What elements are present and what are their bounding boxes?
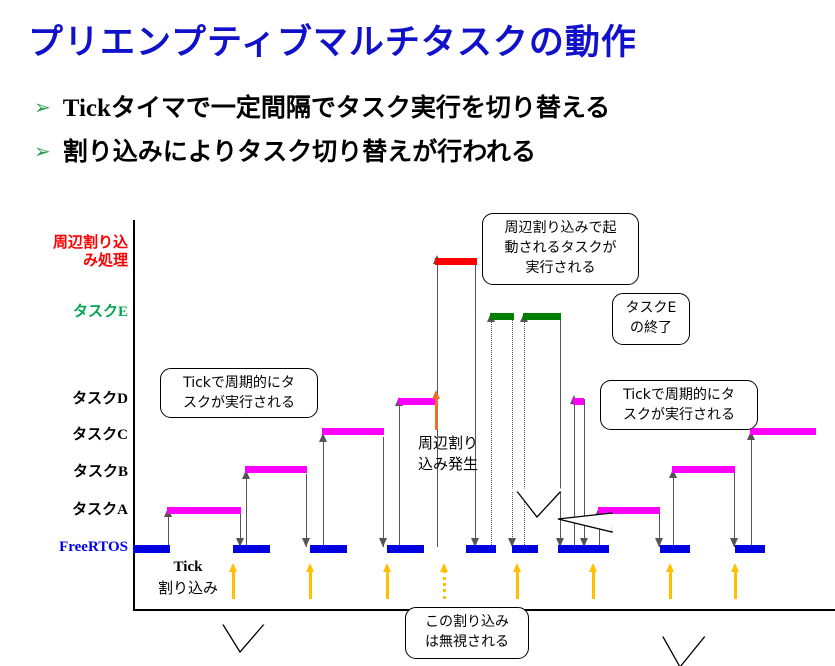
callout-line: 周辺割り込みで起 <box>490 218 631 238</box>
callout-line: スクが実行される <box>608 405 750 425</box>
callout-line: タスクE <box>620 298 682 318</box>
callout-taskE-end: タスクE の終了 <box>612 293 690 345</box>
callout-tick-periodic-left: Tickで周期的にタ スクが実行される <box>160 368 318 418</box>
peripheral-interrupt-label-line1: 周辺割り <box>418 433 496 454</box>
bullet-text-1: 割り込みによりタスク切り替えが行われる <box>63 139 536 166</box>
bullet-marker-icon: ➢ <box>34 95 51 120</box>
page-title: プリエンプティブマルチタスクの動作 <box>28 14 808 65</box>
tick-interrupt-label-line2: 割り込み <box>140 578 236 599</box>
callout-line: スクが実行される <box>168 393 310 413</box>
tick-interrupt-label: Tick 割り込み <box>140 557 236 599</box>
peripheral-interrupt-label: 周辺割り 込み発生 <box>418 433 496 475</box>
callout-line: Tickで周期的にタ <box>608 385 750 405</box>
callout-tick-periodic-right: Tickで周期的にタ スクが実行される <box>600 380 758 430</box>
bullet-marker-icon: ➢ <box>34 139 51 164</box>
slide: プリエンプティブマルチタスクの動作 ➢Tickタイマで一定間隔でタスク実行を切り… <box>0 0 835 666</box>
bullet-item-1: ➢割り込みによりタスク切り替えが行われる <box>34 132 536 168</box>
callout-line: は無視される <box>413 632 521 652</box>
timeline-chart: 周辺割り込 み処理 タスクE タスクD タスクC タスクB タスクA FreeR… <box>0 205 835 666</box>
callout-line: この割り込み <box>413 612 521 632</box>
bullet-item-0: ➢Tickタイマで一定間隔でタスク実行を切り替える <box>34 88 610 124</box>
bullet-text-0: Tickタイマで一定間隔でタスク実行を切り替える <box>63 95 610 122</box>
tick-interrupt-label-line1: Tick <box>140 557 236 578</box>
callout-ignored-interrupt: この割り込み は無視される <box>405 607 529 659</box>
callout-periph-task-run: 周辺割り込みで起 動されるタスクが 実行される <box>482 213 639 285</box>
callout-line: 実行される <box>490 258 631 278</box>
callout-line: の終了 <box>620 318 682 338</box>
peripheral-interrupt-label-line2: 込み発生 <box>418 454 496 475</box>
callout-line: Tickで周期的にタ <box>168 373 310 393</box>
callout-line: 動されるタスクが <box>490 238 631 258</box>
